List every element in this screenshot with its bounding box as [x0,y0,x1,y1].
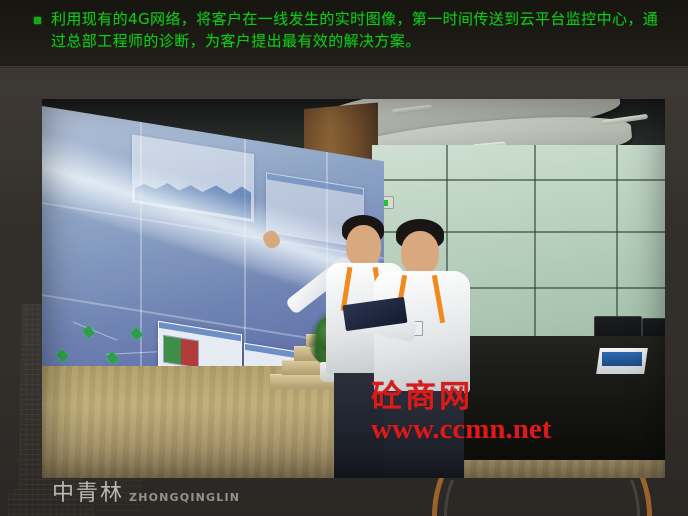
person-trousers [384,391,464,478]
person-head [346,225,381,267]
slide-photo [42,99,665,478]
photo-folder-blue [602,352,642,366]
topology-node [56,349,69,362]
bullet-text: 利用现有的4G网络，将客户在一线发生的实时图像，第一时间传送到云平台监控中心，通… [51,8,660,52]
presentation-slide: 利用现有的4G网络，将客户在一线发生的实时图像，第一时间传送到云平台监控中心，通… [0,0,688,516]
topology-node [82,326,95,339]
square-bullet-icon [34,17,41,24]
person-head [401,231,439,275]
glass-mullion [372,179,665,181]
bullet-paragraph: 利用现有的4G网络，将客户在一线发生的实时图像，第一时间传送到云平台监控中心，通… [34,8,660,52]
topology-link [73,321,118,340]
